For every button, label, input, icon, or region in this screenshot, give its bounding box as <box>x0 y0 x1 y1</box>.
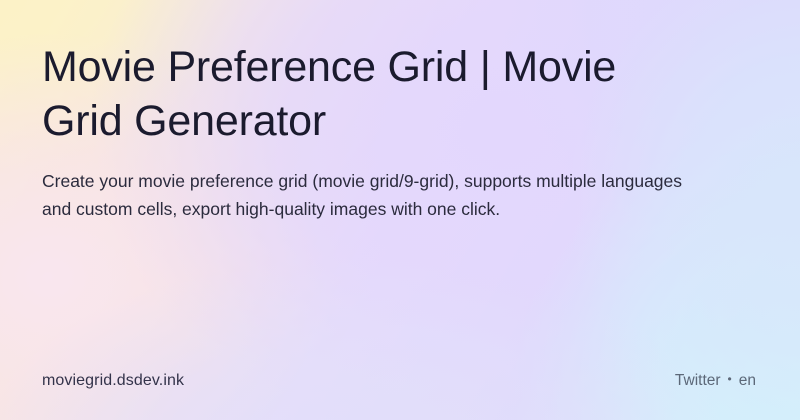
card-footer: moviegrid.dsdev.ink Twitter • en <box>42 372 756 390</box>
page-title: Movie Preference Grid | Movie Grid Gener… <box>42 40 702 148</box>
footer-site-url: moviegrid.dsdev.ink <box>42 372 184 390</box>
footer-separator-dot: • <box>728 373 732 385</box>
page-subtitle: Create your movie preference grid (movie… <box>42 168 690 223</box>
og-share-card: Movie Preference Grid | Movie Grid Gener… <box>0 0 800 420</box>
footer-language-label[interactable]: en <box>739 372 756 390</box>
footer-social-link[interactable]: Twitter <box>675 372 721 390</box>
footer-meta: Twitter • en <box>675 372 756 390</box>
content-spacer <box>42 224 756 372</box>
card-content: Movie Preference Grid | Movie Grid Gener… <box>0 0 800 420</box>
